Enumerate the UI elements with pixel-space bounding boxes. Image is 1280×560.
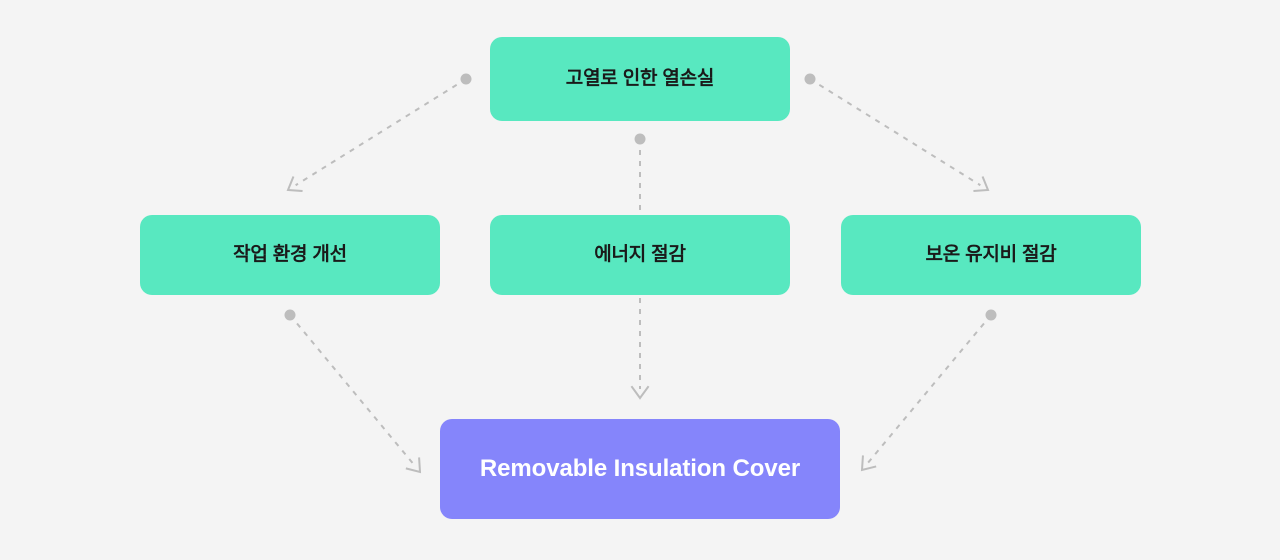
edge-heat-loss-to-insulation-cost-saving	[805, 74, 993, 197]
node-insulation-cost-saving[interactable]: 보온 유지비 절감	[841, 215, 1141, 295]
node-label: 보온 유지비 절감	[911, 243, 1070, 267]
edge-line	[810, 79, 980, 185]
node-label: 고열로 인한 열손실	[552, 67, 728, 91]
node-removable-insulation-cover[interactable]: Removable Insulation Cover	[440, 419, 840, 519]
arrowhead-icon	[407, 458, 426, 477]
edge-work-environment-to-cover	[285, 310, 427, 478]
edge-source-dot-icon	[986, 310, 997, 321]
arrowhead-icon	[284, 177, 302, 196]
edge-heat-loss-to-work-environment	[284, 74, 472, 197]
arrowhead-icon	[974, 177, 992, 196]
arrowhead-icon	[632, 387, 648, 398]
node-label: 에너지 절감	[580, 243, 699, 267]
node-heat-loss[interactable]: 고열로 인한 열손실	[490, 37, 790, 121]
edge-source-dot-icon	[461, 74, 472, 85]
edge-insulation-cost-saving-to-cover	[856, 310, 997, 476]
node-energy-saving[interactable]: 에너지 절감	[490, 215, 790, 295]
edge-energy-saving-to-cover	[632, 298, 648, 398]
edge-source-dot-icon	[635, 134, 646, 145]
edge-heat-loss-to-energy-saving	[635, 134, 646, 213]
edge-source-dot-icon	[285, 310, 296, 321]
edge-line	[296, 79, 466, 185]
node-label: 작업 환경 개선	[219, 243, 361, 267]
edge-line	[290, 315, 414, 465]
diagram-canvas: 고열로 인한 열손실작업 환경 개선에너지 절감보온 유지비 절감Removab…	[0, 0, 1280, 560]
edge-line	[868, 315, 991, 463]
arrowhead-icon	[856, 456, 875, 475]
node-label: Removable Insulation Cover	[466, 454, 814, 484]
edge-source-dot-icon	[805, 74, 816, 85]
node-work-environment[interactable]: 작업 환경 개선	[140, 215, 440, 295]
